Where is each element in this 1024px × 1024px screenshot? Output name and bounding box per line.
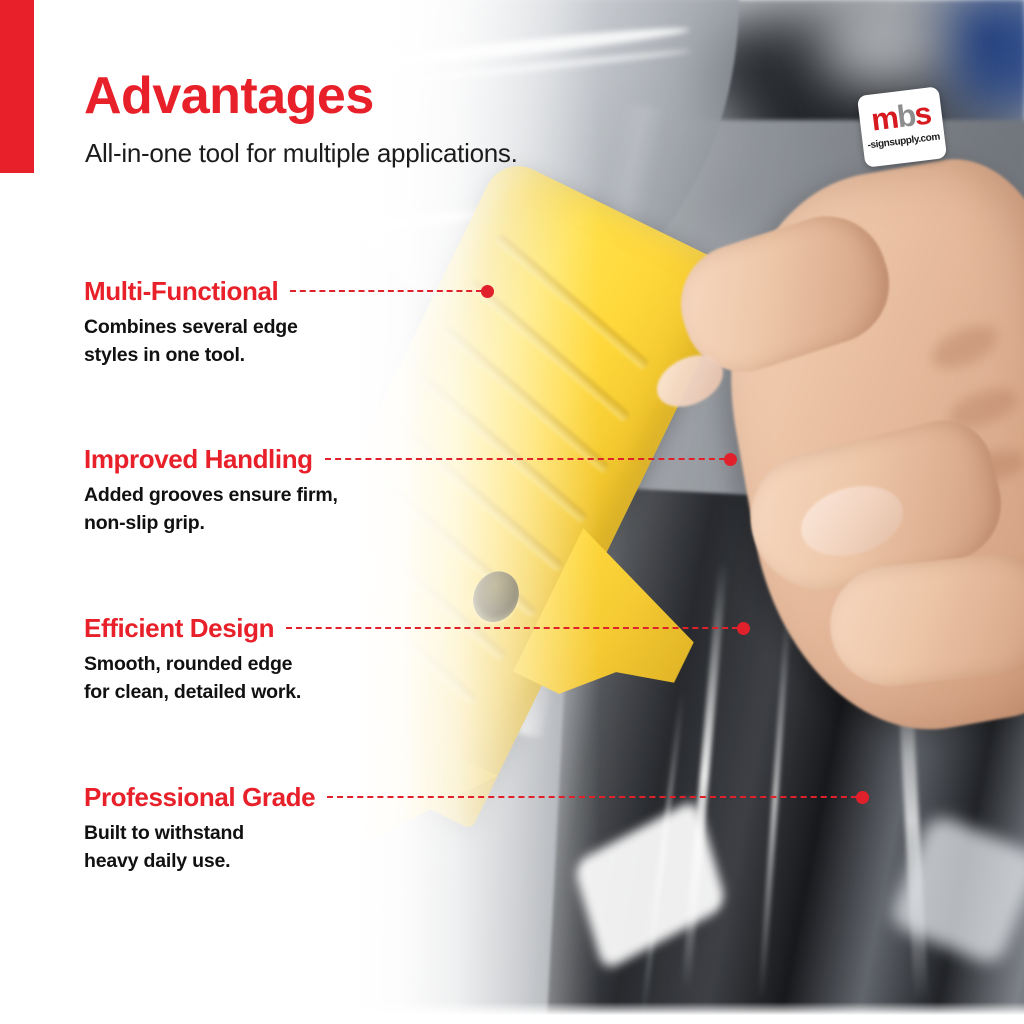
infographic-canvas: Advantages All-in-one tool for multiple … <box>0 0 1024 1024</box>
logo-letter-s: s <box>912 96 932 133</box>
feature-callout-improved-handling: Improved Handling Added grooves ensure f… <box>84 446 737 538</box>
background-blue-accent <box>950 0 1024 110</box>
feature-title: Efficient Design <box>84 615 274 641</box>
connector-line <box>286 627 738 629</box>
connector-line <box>327 796 857 798</box>
feature-description: Built to withstand heavy daily use. <box>84 819 869 876</box>
feature-title: Professional Grade <box>84 784 315 810</box>
logo-wordmark: mbs <box>858 96 943 137</box>
feature-header: Multi-Functional <box>84 278 494 304</box>
connector-dot <box>737 622 750 635</box>
accent-bar <box>0 0 34 173</box>
connector-dot <box>724 453 737 466</box>
connector-dot <box>856 791 869 804</box>
page-subtitle: All-in-one tool for multiple application… <box>85 138 518 169</box>
bottom-white-fade <box>0 1002 1024 1024</box>
feature-header: Improved Handling <box>84 446 737 472</box>
connector-line <box>325 458 725 460</box>
feature-header: Professional Grade <box>84 784 869 810</box>
feature-header: Efficient Design <box>84 615 750 641</box>
page-title: Advantages <box>84 70 374 122</box>
connector-line <box>290 290 482 292</box>
feature-callout-professional-grade: Professional Grade Built to withstand he… <box>84 784 869 876</box>
feature-description: Smooth, rounded edge for clean, detailed… <box>84 650 750 707</box>
feature-callout-multi-functional: Multi-Functional Combines several edge s… <box>84 278 494 370</box>
connector-dot <box>481 285 494 298</box>
feature-title: Improved Handling <box>84 446 313 472</box>
brand-logo: mbs -signsupply.com <box>857 86 947 167</box>
feature-description: Combines several edge styles in one tool… <box>84 313 494 370</box>
feature-title: Multi-Functional <box>84 278 278 304</box>
background-light-shape <box>820 0 940 90</box>
feature-description: Added grooves ensure firm, non-slip grip… <box>84 481 737 538</box>
feature-callout-efficient-design: Efficient Design Smooth, rounded edge fo… <box>84 615 750 707</box>
